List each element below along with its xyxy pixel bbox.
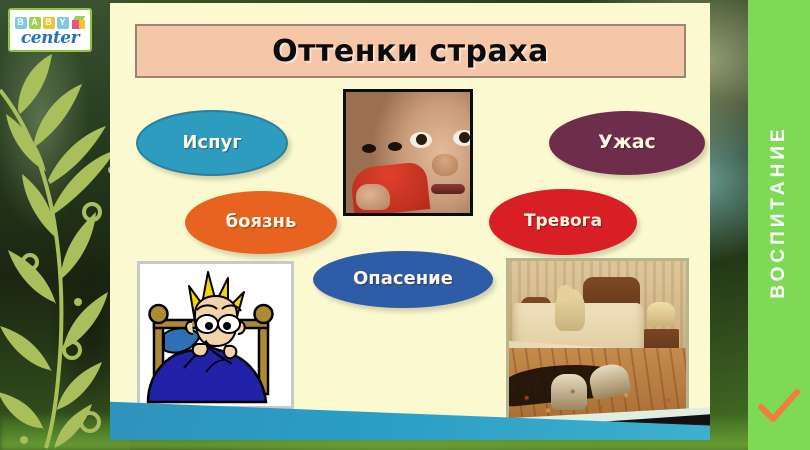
slide-content-card: Оттенки страха Испуг боязнь xyxy=(110,3,710,440)
page-title: Оттенки страха xyxy=(272,34,549,69)
bubble-boyazn[interactable]: боязнь xyxy=(185,191,337,254)
logo-block-a: A xyxy=(29,17,41,29)
photo-scared-children xyxy=(343,89,473,216)
logo-block-y: Y xyxy=(57,17,69,29)
sidebar-item-label: ВОСПИТАНИЕ xyxy=(768,125,790,298)
bubble-ispug-label: Испуг xyxy=(176,134,247,153)
logo-block-b1: B xyxy=(15,17,27,29)
bubble-uzhas-label: Ужас xyxy=(592,133,662,153)
photo-monster-under-bed xyxy=(506,258,689,426)
bubble-trevoga[interactable]: Тревога xyxy=(489,189,637,255)
bubble-opasenie[interactable]: Опасение xyxy=(313,251,493,308)
logo-wordmark: center xyxy=(21,30,79,47)
slide-canvas: B A B Y center Оттенки страха xyxy=(0,0,810,450)
bubble-boyazn-label: боязнь xyxy=(220,213,303,232)
bubble-opasenie-label: Опасение xyxy=(347,270,459,289)
bubble-trevoga-label: Тревога xyxy=(518,213,608,231)
logo-letter-blocks: B A B Y xyxy=(15,16,86,29)
bubble-ispug[interactable]: Испуг xyxy=(136,110,288,176)
sidebar-upbringing[interactable]: ВОСПИТАНИЕ xyxy=(748,0,810,450)
baby-blocks-cube-icon xyxy=(71,16,86,29)
slide-title-box: Оттенки страха xyxy=(135,24,686,78)
checkmark-icon xyxy=(756,383,802,432)
babycenter-logo[interactable]: B A B Y center xyxy=(8,8,92,52)
bubble-uzhas[interactable]: Ужас xyxy=(549,111,705,175)
illustration-boy-in-bed xyxy=(137,261,294,409)
logo-block-b2: B xyxy=(43,17,55,29)
